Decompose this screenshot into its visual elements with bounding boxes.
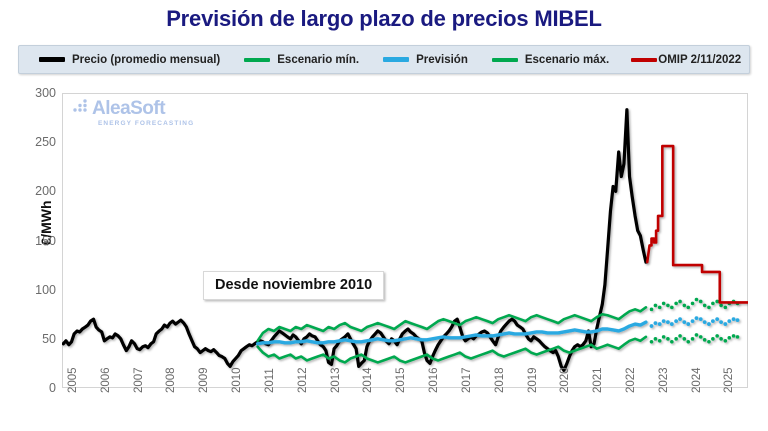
x-tick-label: 2006 [100, 367, 112, 393]
legend-item-escenario-min[interactable]: Escenario mín. [244, 54, 359, 66]
x-tick-label: 2011 [264, 368, 276, 393]
x-tick-label: 2012 [297, 367, 309, 393]
y-tick-label: 200 [18, 184, 56, 198]
legend-swatch-escenario-min [244, 58, 270, 62]
legend-swatch-escenario-max [492, 58, 518, 62]
x-tick-label: 2021 [592, 367, 604, 393]
x-tick-label: 2022 [625, 367, 637, 393]
y-tick-label: 250 [18, 135, 56, 149]
series-omip-2-11-2022 [647, 146, 748, 302]
x-tick-label: 2009 [198, 367, 210, 393]
y-axis-ticks: 050100150200250300 [14, 0, 56, 431]
y-tick-label: 50 [18, 332, 56, 346]
series-escenario-m-n-futuro- [650, 333, 740, 343]
x-tick-label: 2019 [527, 367, 539, 393]
x-tick-label: 2008 [165, 367, 177, 393]
x-tick-label: 2018 [494, 367, 506, 393]
legend-item-precio[interactable]: Precio (promedio mensual) [39, 54, 220, 66]
chart-container: Previsión de largo plazo de precios MIBE… [0, 0, 768, 431]
legend-label-omip: OMIP 2/11/2022 [658, 54, 741, 66]
series-escenario-m-x-futuro- [650, 298, 740, 311]
y-tick-label: 300 [18, 86, 56, 100]
legend-label-precio: Precio (promedio mensual) [72, 54, 220, 66]
x-tick-label: 2005 [67, 367, 79, 393]
x-tick-label: 2013 [330, 367, 342, 393]
x-tick-label: 2020 [559, 367, 571, 393]
series-previsi-n-futuro- [650, 316, 740, 328]
legend-item-escenario-max[interactable]: Escenario máx. [492, 54, 609, 66]
y-tick-label: 150 [18, 234, 56, 248]
x-tick-label: 2016 [428, 367, 440, 393]
annotation-desde-noviembre: Desde noviembre 2010 [203, 271, 384, 300]
legend-swatch-omip [631, 58, 657, 62]
legend-item-prevision[interactable]: Previsión [383, 54, 468, 66]
legend-label-escenario-max: Escenario máx. [525, 54, 609, 66]
chart-plot-area [62, 93, 748, 388]
x-tick-label: 2025 [723, 367, 735, 393]
y-tick-label: 100 [18, 283, 56, 297]
x-tick-label: 2017 [461, 367, 473, 393]
chart-legend: Precio (promedio mensual) Escenario mín.… [18, 45, 750, 74]
legend-item-omip[interactable]: OMIP 2/11/2022 [631, 54, 741, 66]
x-tick-label: 2014 [362, 367, 374, 393]
x-tick-label: 2024 [691, 367, 703, 393]
legend-label-prevision: Previsión [416, 54, 468, 66]
x-tick-label: 2010 [231, 367, 243, 393]
page-title: Previsión de largo plazo de precios MIBE… [0, 6, 768, 32]
x-tick-label: 2015 [395, 367, 407, 393]
y-tick-label: 0 [18, 381, 56, 395]
x-tick-label: 2007 [133, 367, 145, 393]
legend-label-escenario-min: Escenario mín. [277, 54, 359, 66]
legend-swatch-prevision [383, 57, 409, 62]
x-tick-label: 2023 [658, 367, 670, 393]
